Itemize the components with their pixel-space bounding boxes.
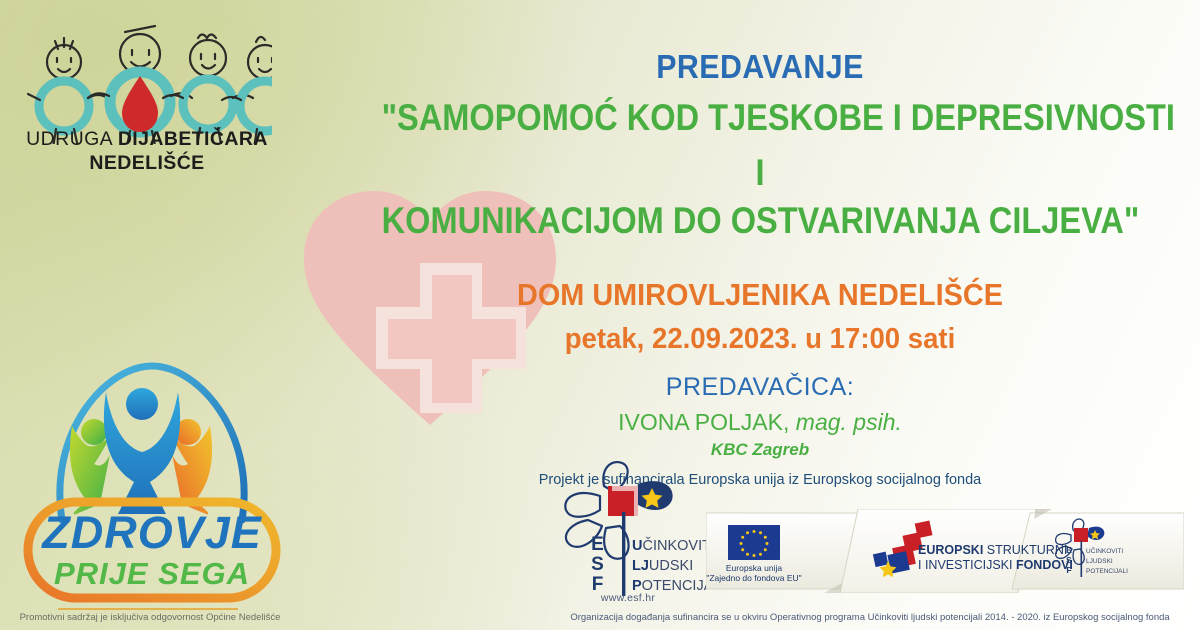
zdrovje-prije-sega-logo: ZDROVJE PRIJE SEGA [14,352,290,606]
lecturer-name-text: IVONA POLJAK, [618,409,789,435]
poster-canvas: UDRUGA DIJABETIČARA NEDELIŠĆE [0,0,1200,630]
esf-logo: E S F UČINKOVITI LJUDSKI POTENCIJALI [548,458,708,608]
udruga-dijabeticara-logo-mark [22,14,272,204]
svg-text:E: E [1066,545,1072,555]
lecturer-degree: mag. psih. [796,409,902,435]
svg-text:EUROPSKI STRUKTURNI: EUROPSKI STRUKTURNI [918,543,1067,557]
headline-title-line1: "SAMOPOMOĆ KOD TJESKOBE I DEPRESIVNOSTI [382,97,1139,139]
svg-text:"Zajedno do fondova EU": "Zajedno do fondova EU" [706,573,801,583]
headline-title-line3: KOMUNIKACIJOM DO OSTVARIVANJA CILJEVA" [382,200,1139,242]
svg-text:F: F [1066,565,1071,575]
association-name-word2: DIJABETIČARA [118,128,268,150]
association-name-word1: UDRUGA [26,128,118,150]
svg-text:I INVESTICIJSKI FONDOVI: I INVESTICIJSKI FONDOVI [918,558,1073,572]
svg-text:ZDROVJE: ZDROVJE [40,507,263,558]
association-name-line2: NEDELIŠĆE [22,152,272,174]
footer-divider [58,608,238,610]
headline-kicker: PREDAVANJE [364,48,1155,86]
svg-text:UČINKOVITI: UČINKOVITI [632,537,708,554]
association-name: UDRUGA DIJABETIČARA NEDELIŠĆE [22,128,272,175]
svg-text:Europska unija: Europska unija [726,563,783,573]
footer-right-text: Organizacija događanja sufinancira se u … [540,612,1200,623]
lecturer-label: PREDAVAČICA: [330,373,1190,402]
svg-text:S: S [1066,555,1072,565]
lecturer-organization: KBC Zagreb [330,440,1190,460]
svg-text:PRIJE SEGA: PRIJE SEGA [54,556,250,591]
event-venue: DOM UMIROVLJENIKA NEDELIŠĆE [360,277,1160,313]
svg-text:LJUDSKI: LJUDSKI [632,558,693,574]
esf-website-url[interactable]: www.esf.hr [548,592,708,604]
eu-funding-banner: Europska unija "Zajedno do fondova EU" E… [706,509,1184,593]
svg-text:LJUDSKI: LJUDSKI [1086,558,1113,565]
headline-title-line2: I [382,152,1139,194]
eu-funding-statement: Projekt je sufinancirala Europska unija … [330,472,1190,488]
event-datetime: petak, 22.09.2023. u 17:00 sati [352,323,1169,356]
svg-text:UČINKOVITI: UČINKOVITI [1086,546,1123,555]
svg-text:S: S [591,554,605,575]
lecturer-name: IVONA POLJAK, mag. psih. [330,409,1190,436]
svg-text:POTENCIJALI: POTENCIJALI [1086,568,1128,575]
footer-left-text: Promotivni sadržaj je isključiva odgovor… [0,612,300,623]
svg-text:E: E [591,534,605,555]
